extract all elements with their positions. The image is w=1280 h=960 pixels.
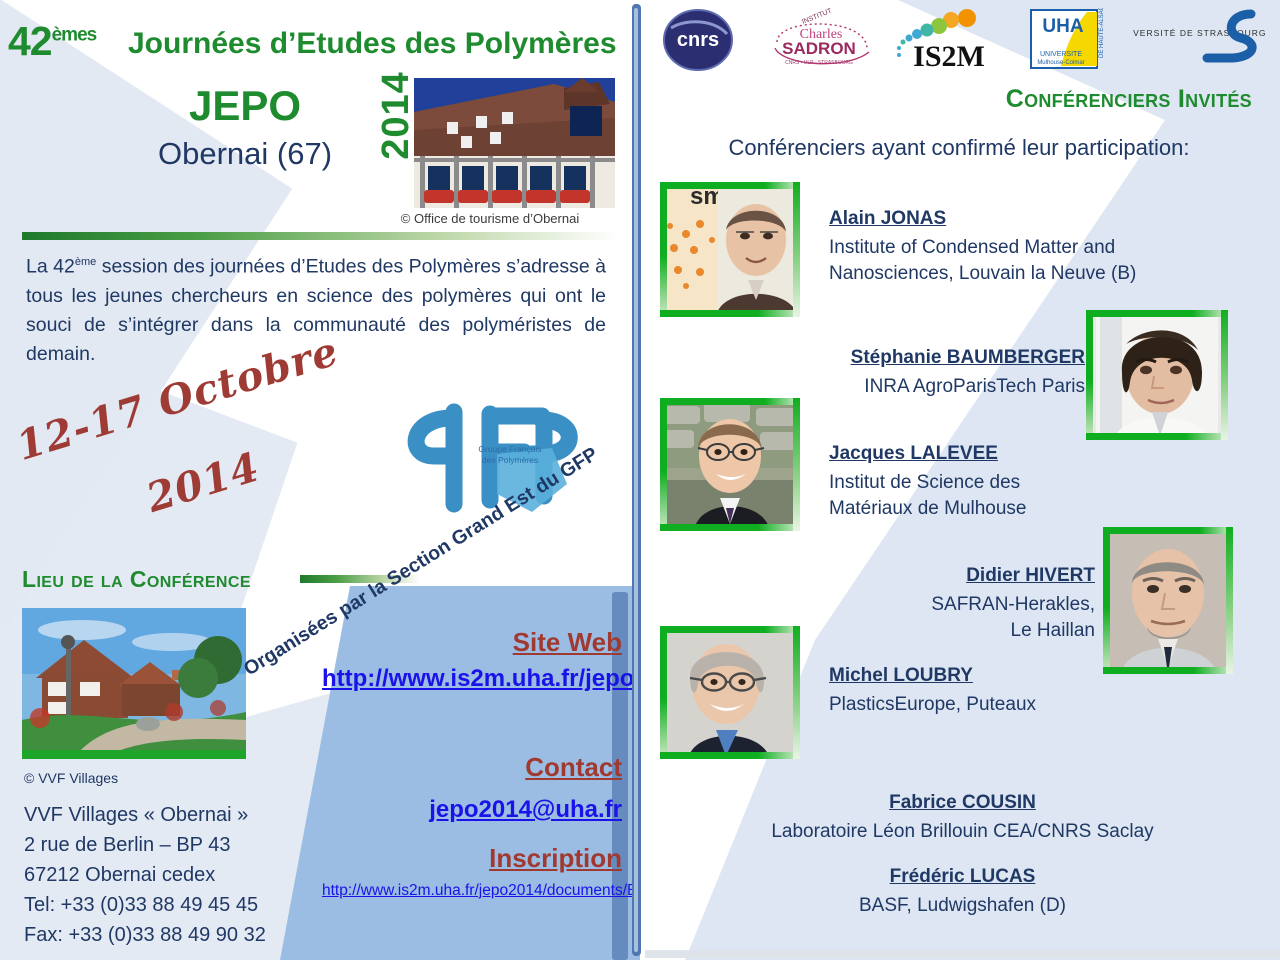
acronym-title: JEPO	[120, 82, 370, 130]
svg-text:cnrs: cnrs	[677, 29, 719, 51]
venue-address: VVF Villages « Obernai » 2 rue de Berlin…	[24, 800, 266, 950]
svg-text:IS2M: IS2M	[913, 40, 985, 72]
speaker-photo-didier-hivert	[1103, 527, 1233, 674]
speaker-photo-michel-loubry	[660, 626, 800, 759]
universite-de-strasbourg-logo: UNIVERSITÉ DE STRASBOURG	[1133, 8, 1273, 72]
vvf-villages-photo	[22, 608, 246, 753]
svg-text:INSTITUT: INSTITUT	[801, 8, 833, 26]
inscription-link[interactable]: http://www.is2m.uha.fr/jepo2014/document…	[322, 880, 622, 901]
speaker-photo-jacques-lalevee	[660, 398, 800, 531]
speaker-affiliation-5: Laboratoire Léon Brillouin CEA/CNRS Sacl…	[645, 819, 1280, 845]
speaker-affiliation-0: Institute of Condensed Matter and Nanosc…	[829, 235, 1136, 287]
speaker-affiliation-6: BASF, Ludwigshafen (D)	[645, 893, 1280, 919]
vvf-photo-green-band	[22, 750, 246, 759]
site-web-link[interactable]: http://www.is2m.uha.fr/jepo2014	[322, 663, 622, 695]
page-title: Journées d’Etudes des Polymères	[128, 27, 617, 61]
speaker-name-3: Didier HIVERT	[645, 565, 1095, 587]
institut-charles-sadron-logo: INSTITUT Charles SADRON CNRS - ULP - STR…	[767, 8, 875, 72]
section-title-venue: Lieu de la Conférence	[22, 566, 251, 593]
speaker-name-2: Jacques LALEVEE	[829, 443, 998, 465]
vvf-photo-credit: © VVF Villages	[24, 770, 118, 786]
speaker-photo-stephanie-baumberger	[1086, 310, 1228, 440]
speaker-affiliation-1: INRA AgroParisTech Paris	[645, 374, 1085, 400]
speaker-name-1: Stéphanie BAUMBERGER	[645, 347, 1085, 369]
speaker-name-4: Michel LOUBRY	[829, 665, 973, 687]
panel-divider-inner	[634, 8, 638, 952]
right-panel-bottom-edge	[645, 950, 1280, 958]
right-panel: cnrs INSTITUT Charles SADRON CNRS - ULP …	[645, 0, 1280, 960]
obernai-photo-credit: © Office de tourisme d’Obernai	[360, 211, 620, 226]
site-web-heading: Site Web	[322, 627, 622, 658]
vvf-photo-art	[22, 608, 246, 753]
svg-text:SADRON: SADRON	[782, 39, 856, 58]
svg-text:UNIVERSITE: UNIVERSITE	[1040, 51, 1082, 58]
speaker-photo-alain-jonas: sma	[660, 182, 800, 317]
location-subtitle: Obernai (67)	[90, 136, 400, 172]
section-title-speakers: Conférenciers Invités	[1006, 85, 1252, 114]
speaker-name-5: Fabrice COUSIN	[645, 792, 1280, 814]
speaker-affiliation-4: PlasticsEurope, Puteaux	[829, 692, 1036, 718]
svg-text:Mulhouse-Colmar: Mulhouse-Colmar	[1037, 60, 1084, 66]
speaker-name-0: Alain JONAS	[829, 208, 946, 230]
edition-number: 42èmes	[8, 18, 96, 65]
contact-email-link[interactable]: jepo2014@uha.fr	[322, 796, 622, 824]
year-vertical: 2014	[375, 71, 418, 160]
cnrs-logo: cnrs	[659, 8, 737, 72]
speaker-affiliation-2: Institut de Science des Matériaux de Mul…	[829, 470, 1027, 522]
uha-logo: UHA UNIVERSITE Mulhouse-Colmar DE HAUTE-…	[1027, 8, 1111, 72]
obernai-photo	[414, 78, 615, 208]
contact-heading: Contact	[322, 752, 622, 783]
inscription-heading: Inscription	[322, 843, 622, 874]
sponsor-logo-bar: cnrs INSTITUT Charles SADRON CNRS - ULP …	[645, 4, 1280, 76]
section-divider-rule	[22, 232, 618, 240]
conference-poster: 42èmes Journées d’Etudes des Polymères J…	[0, 0, 1280, 960]
gfp-logo-text: Groupe Français des Polymères	[474, 444, 546, 466]
is2m-logo: IS2M	[891, 8, 1001, 72]
obernai-photo-art	[414, 78, 615, 208]
speaker-name-6: Frédéric LUCAS	[645, 866, 1280, 888]
left-panel: 42èmes Journées d’Etudes des Polymères J…	[0, 0, 640, 960]
speakers-subtitle: Conférenciers ayant confirmé leur partic…	[659, 135, 1259, 161]
svg-text:DE HAUTE-ALSACE: DE HAUTE-ALSACE	[1099, 8, 1105, 58]
svg-text:UHA: UHA	[1042, 16, 1083, 37]
